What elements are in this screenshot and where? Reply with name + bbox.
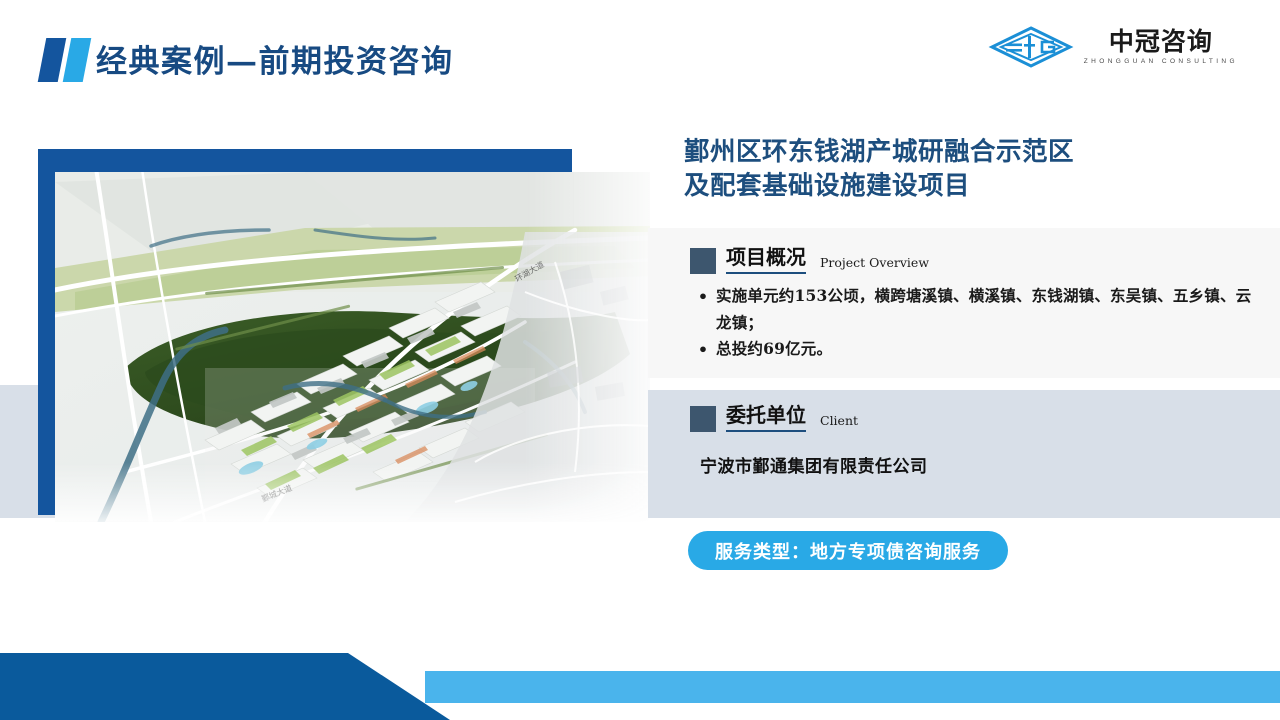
slide-header: 经典案例—前期投资咨询 中冠咨询 ZHONGGUAN CONSULTING	[0, 0, 1280, 108]
overview-bullet-text: 总投约69亿元。	[716, 336, 1265, 363]
overview-bullet-list: • 实施单元约153公顷，横跨塘溪镇、横溪镇、东钱湖镇、东吴镇、五乡镇、云龙镇；…	[690, 283, 1265, 364]
header-accent-marks	[40, 38, 96, 82]
list-item: • 总投约69亿元。	[690, 336, 1265, 364]
aerial-rendering-graphic: 环湖大道 鄞城大道	[55, 172, 650, 522]
client-heading: 委托单位 Client	[690, 404, 858, 432]
logo-name-cn: 中冠咨询	[1109, 29, 1213, 54]
accent-bar-light	[63, 38, 92, 82]
slide-root: 经典案例—前期投资咨询 中冠咨询 ZHONGGUAN CONSULTING	[0, 0, 1280, 720]
overview-heading-en: Project Overview	[820, 255, 929, 270]
project-title: 鄞州区环东钱湖产城研融合示范区 及配套基础设施建设项目	[684, 136, 1244, 204]
footer-band-light	[425, 671, 1280, 703]
logo-wordmark: 中冠咨询 ZHONGGUAN CONSULTING	[1084, 29, 1238, 66]
list-item: • 实施单元约153公顷，横跨塘溪镇、横溪镇、东钱湖镇、东吴镇、五乡镇、云龙镇；	[690, 283, 1265, 336]
zg-hexagon-logo-icon	[988, 26, 1074, 68]
company-logo: 中冠咨询 ZHONGGUAN CONSULTING	[988, 26, 1238, 68]
aerial-masterplan-image: 环湖大道 鄞城大道	[55, 172, 650, 522]
section-marker-square	[690, 248, 716, 274]
project-title-line2: 及配套基础设施建设项目	[684, 170, 1244, 204]
section-marker-square	[690, 406, 716, 432]
overview-bullet-text: 实施单元约153公顷，横跨塘溪镇、横溪镇、东钱湖镇、东吴镇、五乡镇、云龙镇；	[716, 283, 1265, 336]
client-name: 宁波市鄞通集团有限责任公司	[700, 452, 928, 477]
accent-bar-dark	[38, 38, 67, 82]
overview-heading: 项目概况 Project Overview	[690, 246, 929, 274]
service-type-badge: 服务类型：地方专项债咨询服务	[688, 531, 1008, 570]
overview-heading-cn: 项目概况	[726, 246, 806, 274]
bullet-dot-icon: •	[690, 283, 716, 311]
logo-name-en: ZHONGGUAN CONSULTING	[1084, 59, 1238, 66]
client-heading-en: Client	[820, 413, 858, 428]
bullet-dot-icon: •	[690, 336, 716, 364]
project-title-line1: 鄞州区环东钱湖产城研融合示范区	[684, 136, 1244, 170]
footer-band-dark	[0, 653, 450, 720]
page-title: 经典案例—前期投资咨询	[96, 36, 454, 81]
client-heading-cn: 委托单位	[726, 404, 806, 432]
